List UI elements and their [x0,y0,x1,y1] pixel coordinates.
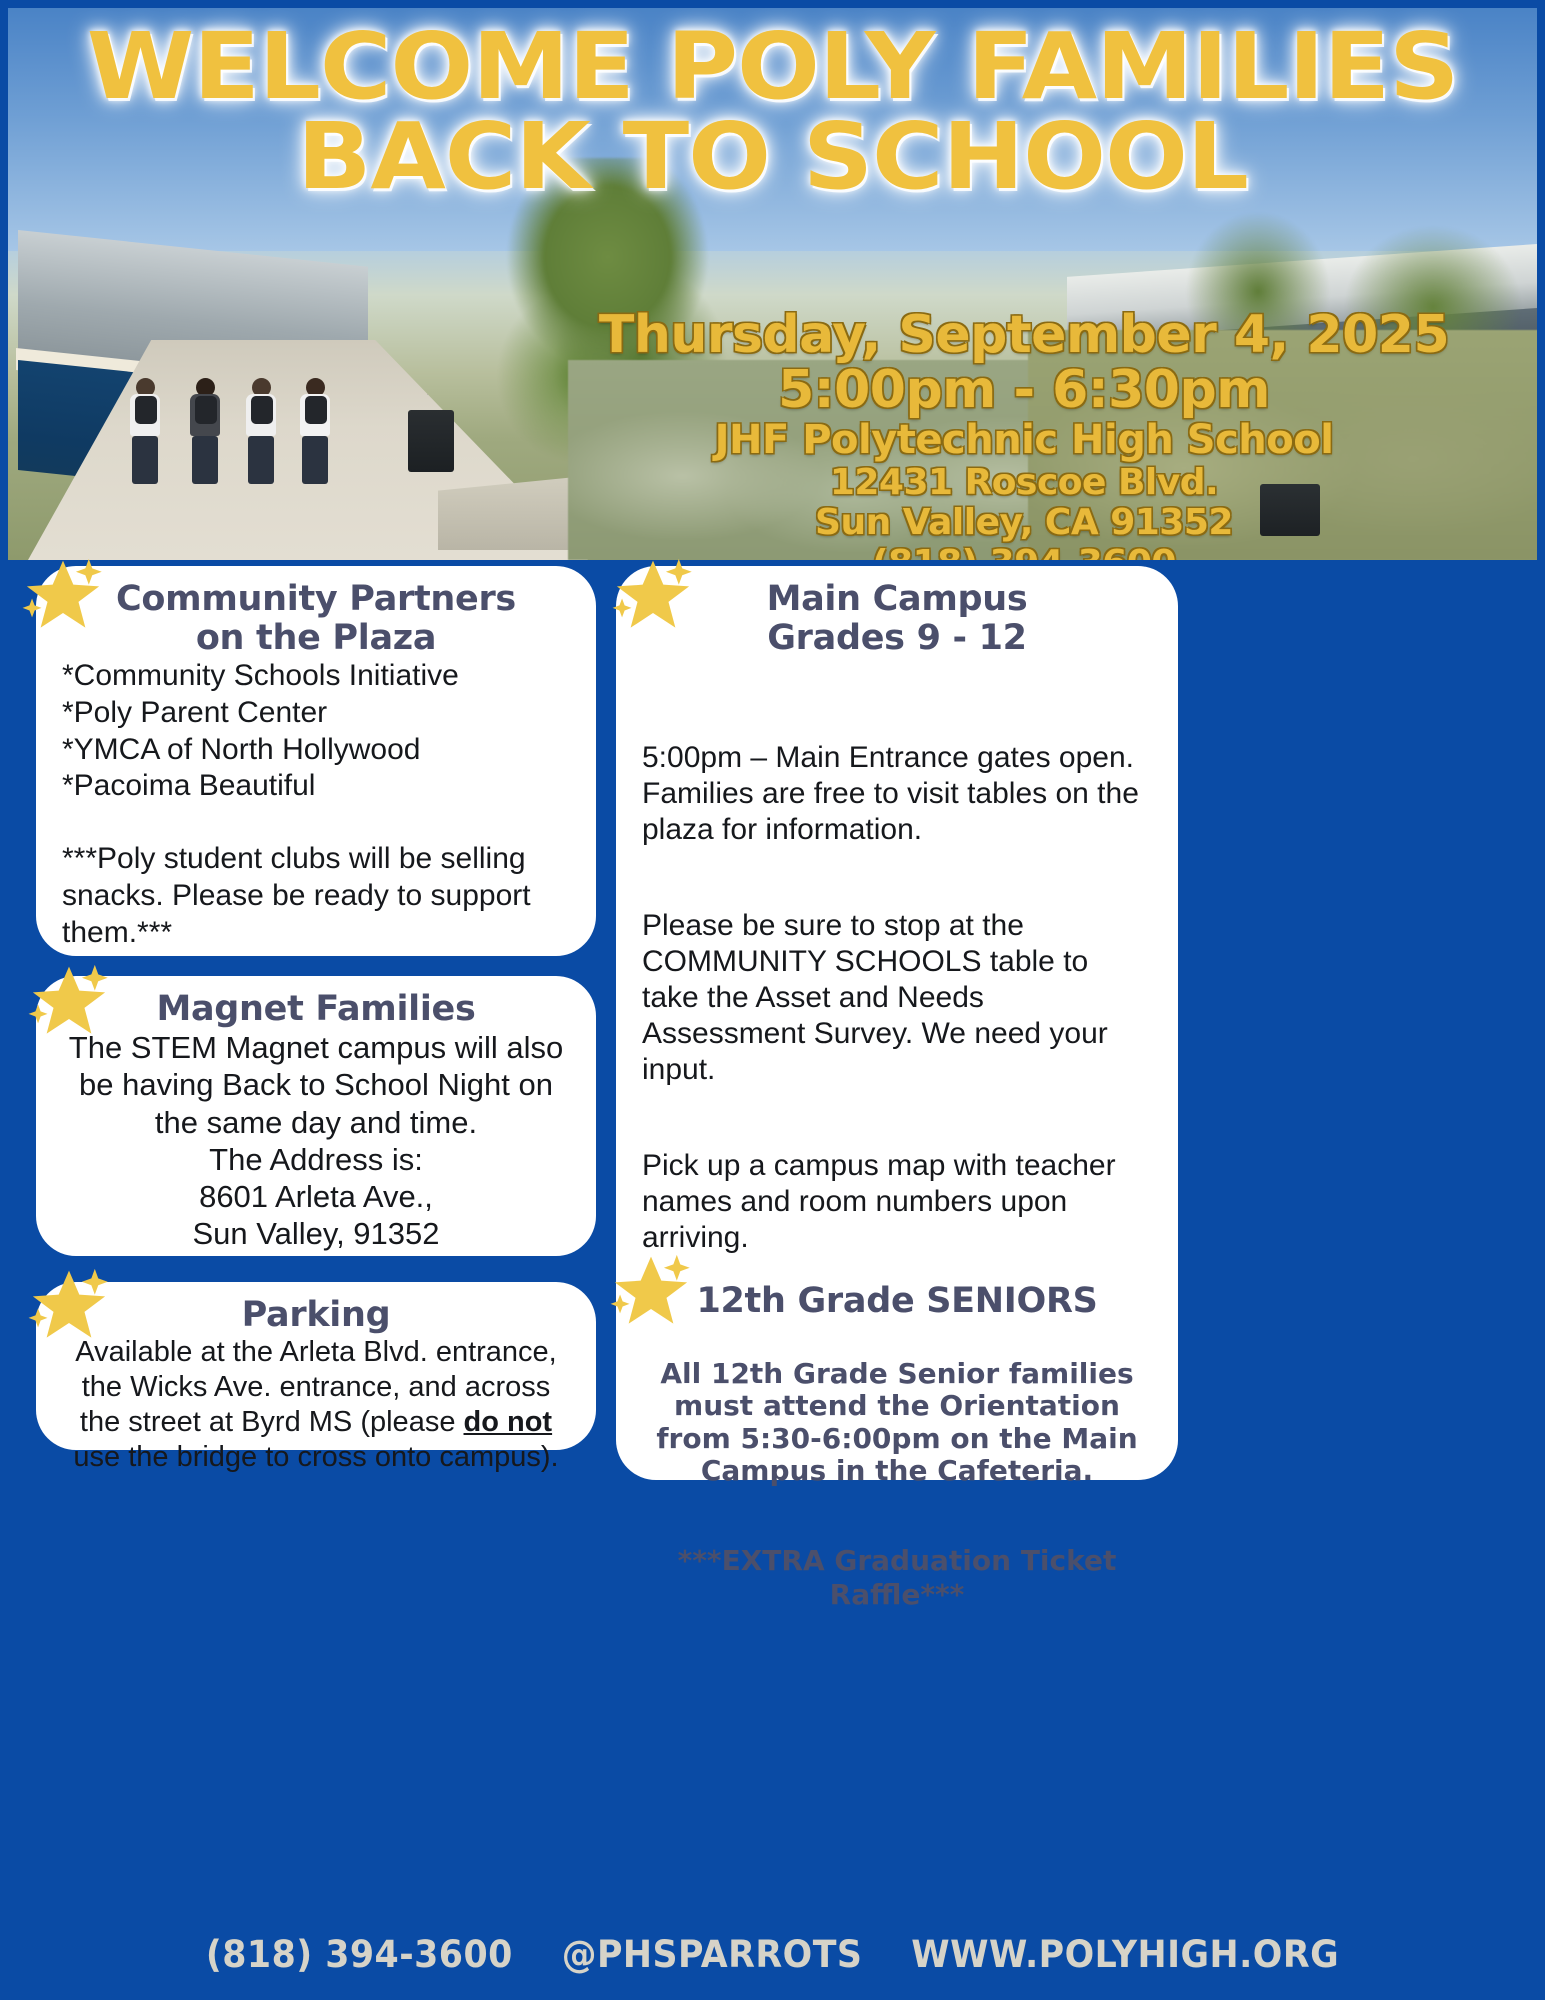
event-phone: (818) 394-3600 [549,544,1499,560]
card-body: The STEM Magnet campus will also be havi… [62,1029,570,1252]
card-body: *Community Schools Initiative *Poly Pare… [62,658,570,951]
event-details: Thursday, September 4, 2025 5:00pm - 6:3… [549,308,1499,560]
card-title: Magnet Families [62,990,570,1029]
page-title: WELCOME POLY FAMILIES BACK TO SCHOOL [8,22,1537,202]
event-city: Sun Valley, CA 91352 [549,503,1499,543]
student-figure [300,378,330,484]
main-campus-paragraph-3: Pick up a campus map with teacher names … [642,1148,1152,1256]
trash-can-left [408,410,454,472]
footer-contact-bar: (818) 394-3600 @PHSPARROTS WWW.POLYHIGH.… [46,1908,1498,2000]
card-title: Parking [62,1296,570,1335]
card-title: Main Campus Grades 9 - 12 [642,580,1152,658]
seniors-raffle-text: ***EXTRA Graduation Ticket Raffle*** [642,1544,1152,1612]
card-body: All 12th Grade Senior families must atte… [642,1321,1152,1649]
card-community-partners: Community Partners on the Plaza *Communi… [36,566,596,956]
student-figure [190,378,220,484]
hero-photo-banner: WELCOME POLY FAMILIES BACK TO SCHOOL Thu… [8,8,1537,560]
event-school: JHF Polytechnic High School [549,418,1499,463]
event-time: 5:00pm - 6:30pm [549,363,1499,418]
parking-text-emphasis: do not [464,1406,553,1438]
footer-phone: (818) 394-3600 [206,1933,513,1976]
parking-text-after: use the bridge to cross onto campus). [73,1441,558,1473]
card-body: Available at the Arleta Blvd. entrance, … [62,1335,570,1474]
card-parking: Parking Available at the Arleta Blvd. en… [36,1282,596,1450]
card-title: Community Partners on the Plaza [62,580,570,658]
student-figure [130,378,160,484]
footer-website[interactable]: WWW.POLYHIGH.ORG [911,1933,1339,1976]
student-figure [246,378,276,484]
event-date: Thursday, September 4, 2025 [549,308,1499,363]
card-seniors: 12th Grade SENIORS All 12th Grade Senior… [616,1268,1178,1480]
seniors-orientation-text: All 12th Grade Senior families must atte… [642,1358,1152,1488]
event-address: 12431 Roscoe Blvd. [549,463,1499,503]
main-campus-paragraph-2: Please be sure to stop at the COMMUNITY … [642,908,1152,1088]
card-title: 12th Grade SENIORS [642,1282,1152,1321]
card-magnet-families: Magnet Families The STEM Magnet campus w… [36,976,596,1256]
main-campus-paragraph-1: 5:00pm – Main Entrance gates open. Famil… [642,740,1152,848]
footer-social[interactable]: @PHSPARROTS [562,1933,863,1976]
